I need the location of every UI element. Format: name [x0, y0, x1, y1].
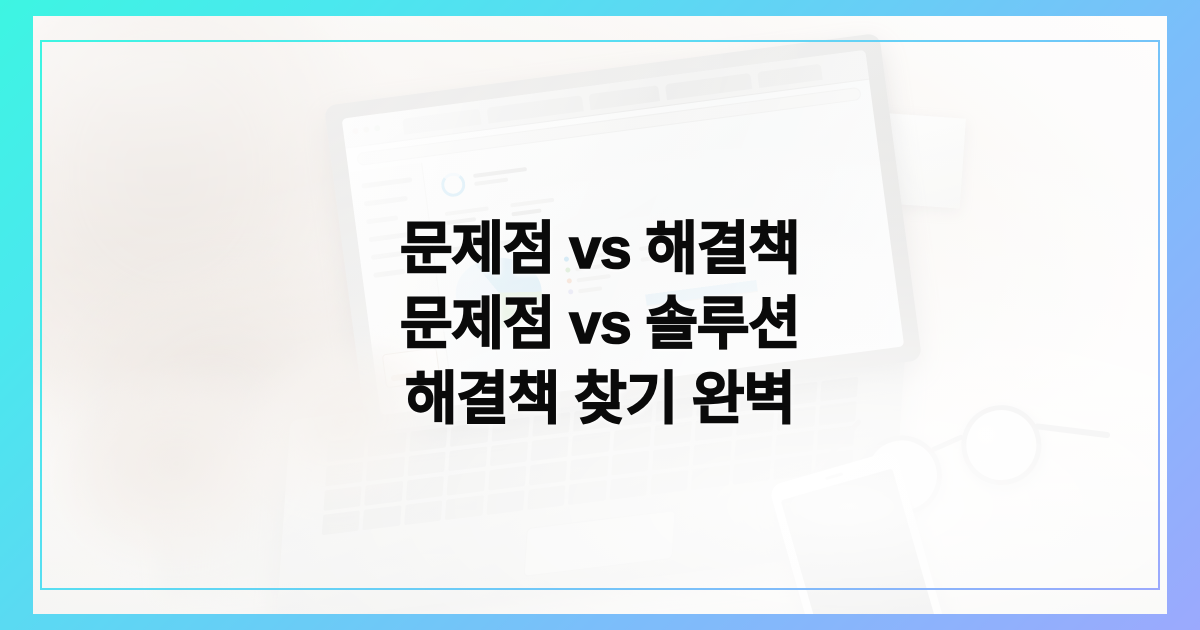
kpi-text-lines — [473, 167, 529, 190]
secondary-metric-block — [638, 224, 758, 306]
dashboard-charts — [452, 209, 880, 333]
sparkline-chart — [643, 262, 758, 306]
filter-field — [445, 206, 491, 230]
section-heading-bar — [449, 240, 511, 252]
pie-chart — [455, 257, 543, 329]
window-control-dots — [352, 125, 381, 135]
glasses-bridge — [931, 434, 964, 452]
filter-field — [510, 198, 556, 222]
pie-chart-legend — [563, 242, 619, 294]
social-card: 문제점 vs 해결책 문제점 vs 솔루션 해결책 찾기 완벽 — [0, 0, 1200, 630]
background-photo — [33, 16, 1167, 614]
card-plate: 문제점 vs 해결책 문제점 vs 솔루션 해결책 찾기 완벽 — [33, 16, 1167, 614]
glasses-lens — [951, 395, 1051, 495]
progress-ring-icon — [440, 171, 467, 198]
phone-speaker-slot — [825, 472, 843, 480]
laptop-trackpad — [523, 510, 675, 577]
